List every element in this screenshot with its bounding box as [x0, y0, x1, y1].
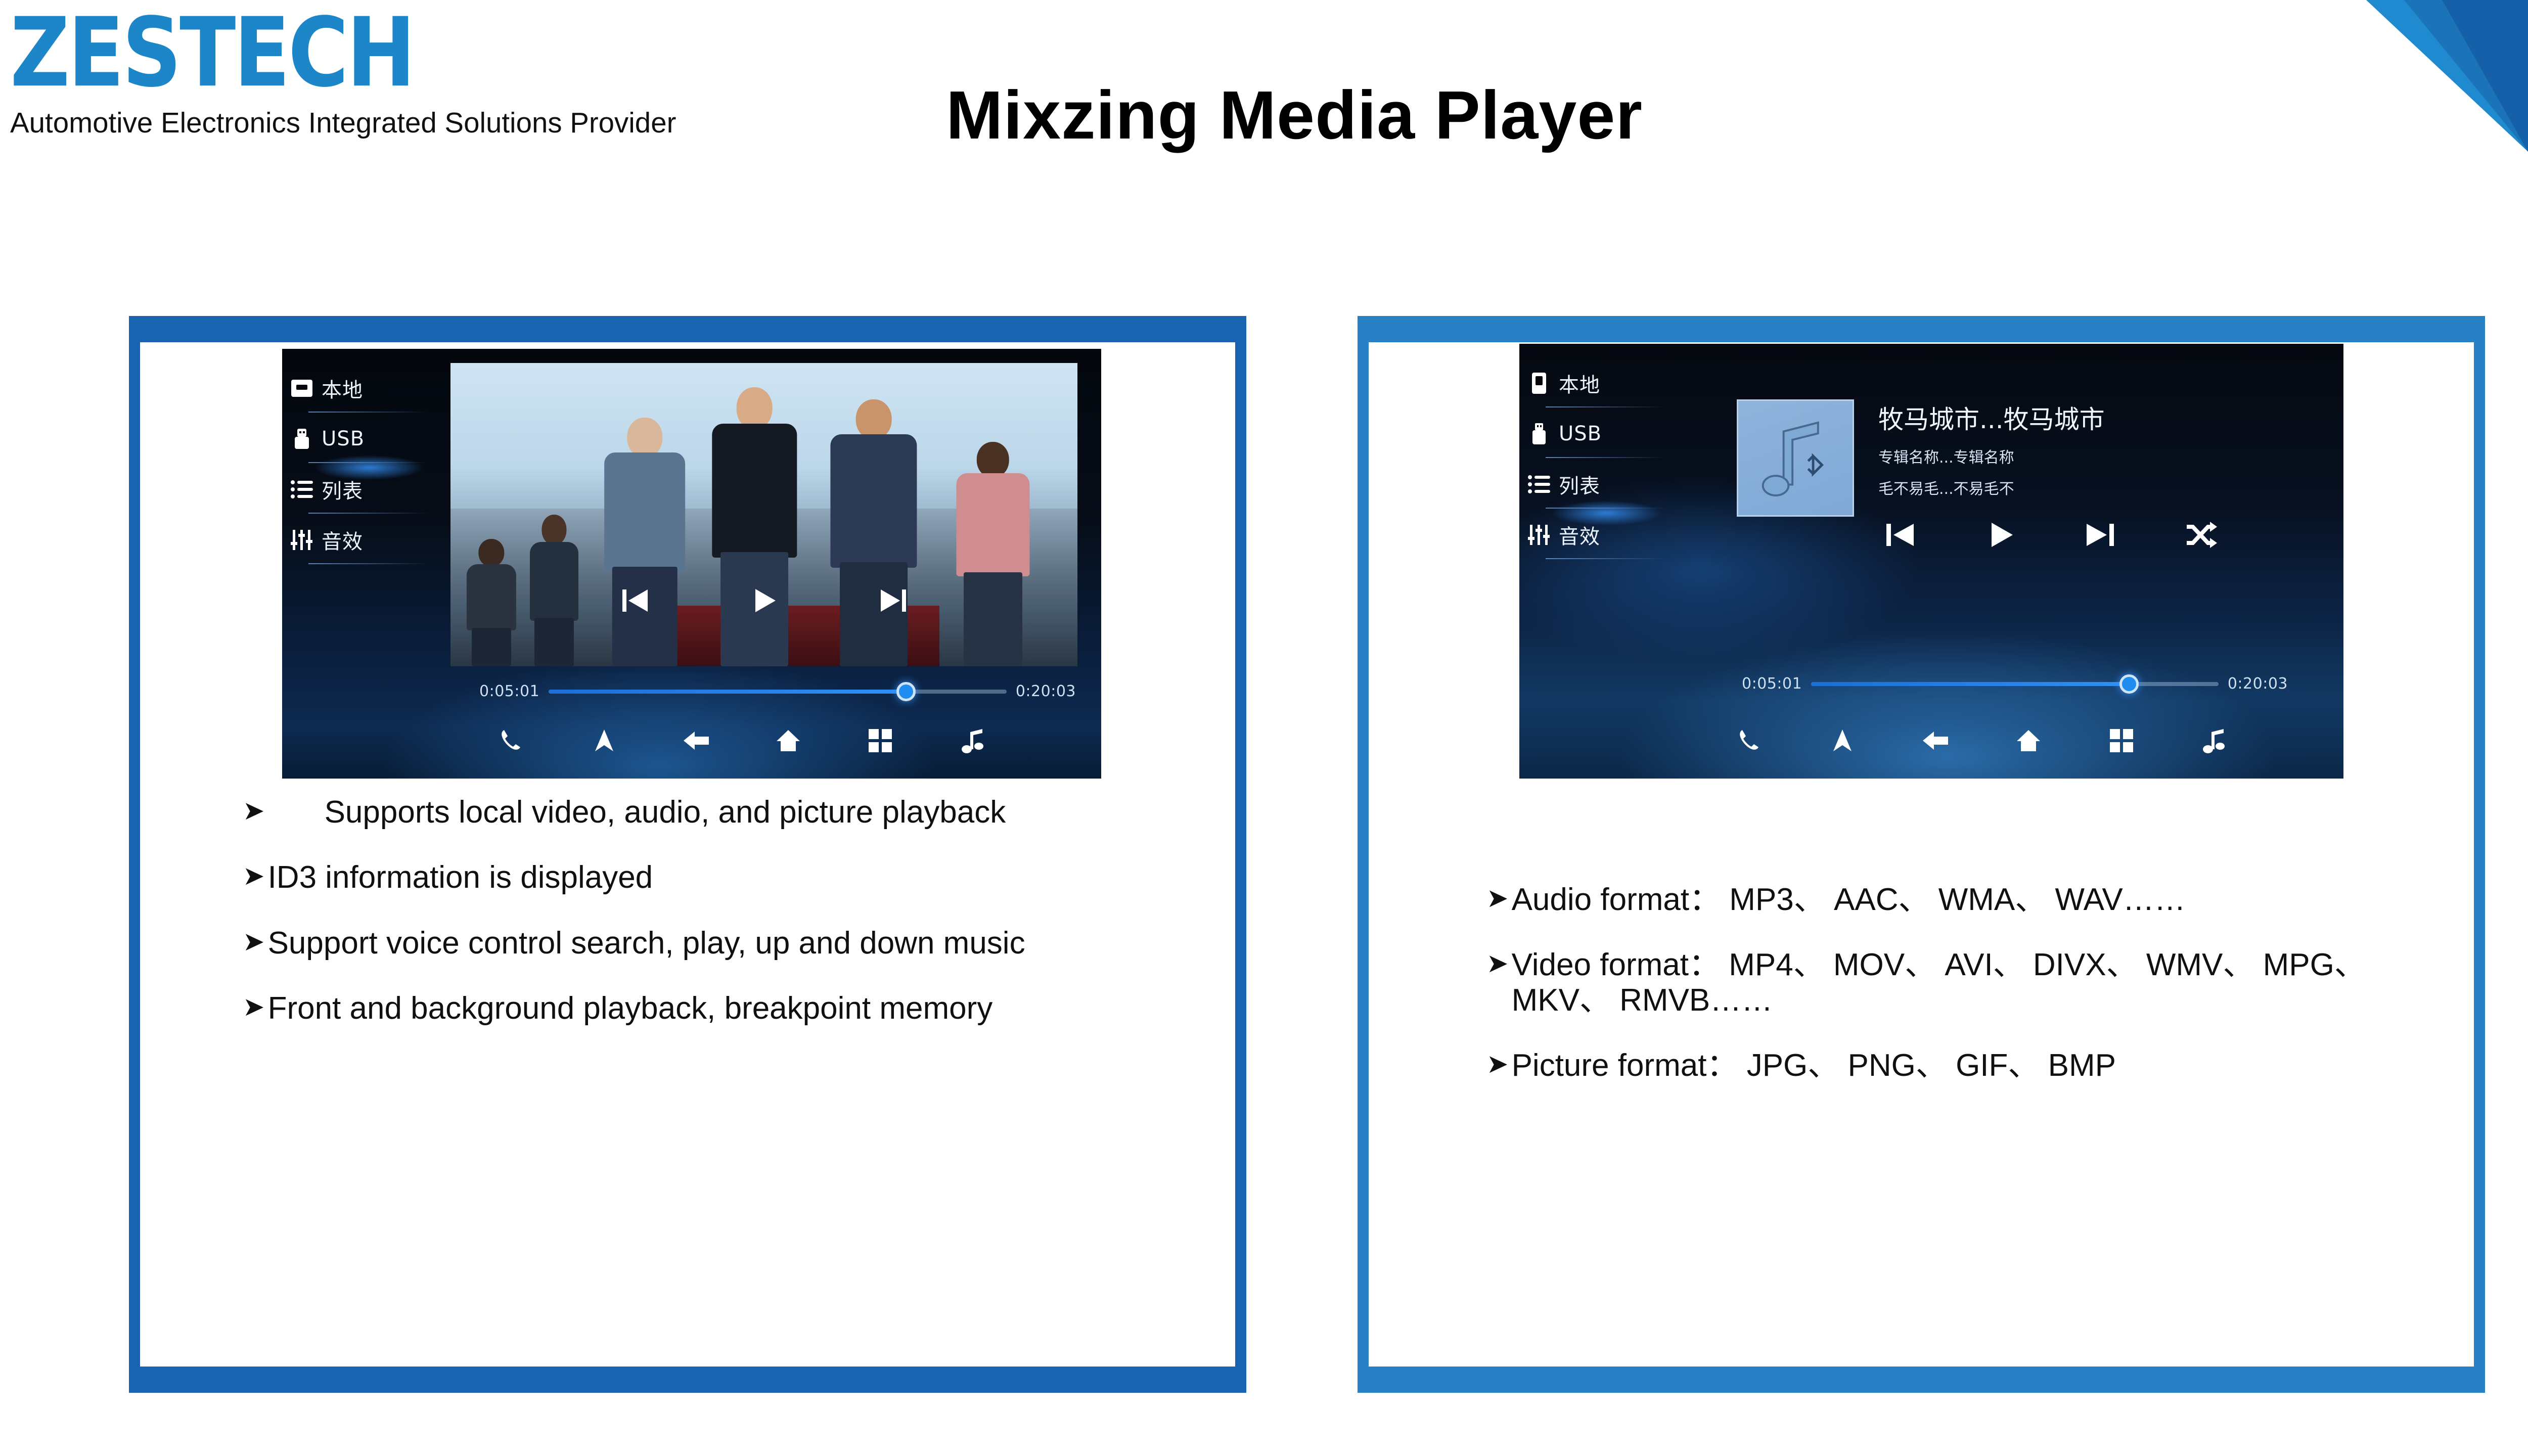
card-frame-right — [2474, 316, 2485, 1393]
back-arrow-icon[interactable] — [1911, 716, 1960, 765]
bullet-marker: ➤ — [1486, 882, 1509, 917]
local-storage-icon — [1519, 372, 1559, 395]
card-frame-left — [1358, 316, 1369, 1393]
progress-bar[interactable] — [1811, 682, 2219, 686]
sidebar-label: USB — [322, 427, 365, 450]
bullet-marker: ➤ — [243, 795, 265, 830]
previous-track-icon[interactable] — [1883, 520, 1917, 553]
sidebar-label: 音效 — [322, 525, 363, 555]
total-time: 0:20:03 — [1016, 682, 1076, 700]
list-item: ➤ Front and background playback, breakpo… — [243, 991, 1168, 1026]
list-item-text: Front and background playback, breakpoin… — [268, 991, 1168, 1026]
shuffle-icon[interactable] — [2184, 520, 2217, 553]
usb-icon — [1519, 422, 1559, 445]
card-frame-top — [1358, 316, 2485, 342]
play-icon[interactable] — [748, 586, 780, 617]
progress-thumb[interactable] — [896, 682, 916, 701]
sidebar-item-sound[interactable]: 音效 — [282, 518, 434, 562]
list-item-text: Support voice control search, play, up a… — [268, 926, 1168, 961]
music-note-bluetooth-icon — [1738, 401, 1853, 515]
bullet-marker: ➤ — [243, 991, 265, 1026]
sidebar-label: 本地 — [322, 374, 363, 403]
phone-icon[interactable] — [487, 716, 536, 765]
sidebar-label: USB — [1559, 422, 1602, 445]
apps-grid-icon[interactable] — [2097, 716, 2146, 765]
sidebar-label: 列表 — [1559, 470, 1600, 499]
list-item: ➤ Support voice control search, play, up… — [243, 926, 1168, 961]
equalizer-icon — [1519, 524, 1559, 546]
navigation-icon[interactable] — [1818, 716, 1867, 765]
playback-progress[interactable]: 0:05:01 0:20:03 — [479, 682, 1076, 700]
list-item-text: Video format： MP4、 MOV、 AVI、 DIVX、 WMV、 … — [1512, 947, 2417, 1018]
card-frame-top — [129, 316, 1246, 342]
sidebar-label: 音效 — [1559, 520, 1600, 550]
progress-thumb[interactable] — [2119, 674, 2139, 694]
music-playback-controls — [1883, 513, 2217, 559]
card-frame-bottom — [129, 1367, 1246, 1393]
video-player-screenshot: 本地 USB 列表 音效 — [282, 349, 1101, 779]
list-item: ➤ Supports local video, audio, and pictu… — [243, 795, 1168, 830]
back-arrow-icon[interactable] — [672, 716, 720, 765]
device-bottom-nav — [282, 703, 1101, 779]
list-item: ➤ Video format： MP4、 MOV、 AVI、 DIVX、 WMV… — [1486, 947, 2417, 1018]
album-art — [1737, 399, 1854, 517]
card-frame-right — [1235, 316, 1246, 1393]
music-note-icon[interactable] — [2190, 716, 2238, 765]
music-player-screenshot: 本地 USB 列表 音效 — [1519, 344, 2343, 779]
bullet-marker: ➤ — [243, 860, 265, 895]
divider — [308, 462, 429, 463]
usb-icon — [282, 428, 322, 450]
play-icon[interactable] — [1983, 520, 2017, 553]
artist-name: 毛不易毛...不易毛不 — [1878, 476, 2232, 498]
now-playing-metadata: 牧马城市...牧马城市 专辑名称...专辑名称 毛不易毛...不易毛不 — [1878, 399, 2232, 498]
elapsed-time: 0:05:01 — [1742, 675, 1802, 693]
list-item-text: Picture format： JPG、 PNG、 GIF、 BMP — [1512, 1048, 2417, 1083]
apps-grid-icon[interactable] — [856, 716, 905, 765]
list-item: ➤ ID3 information is displayed — [243, 860, 1168, 895]
total-time: 0:20:03 — [2228, 675, 2288, 693]
list-icon — [282, 480, 322, 499]
list-item: ➤ Audio format： MP3、 AAC、 WMA、 WAV…… — [1486, 882, 2417, 917]
next-track-icon[interactable] — [2084, 520, 2117, 553]
sidebar-item-local[interactable]: 本地 — [282, 366, 434, 411]
next-track-icon[interactable] — [878, 586, 909, 617]
sidebar-item-list[interactable]: 列表 — [282, 467, 434, 512]
card-frame-left — [129, 316, 140, 1393]
divider — [308, 412, 429, 413]
divider — [1546, 406, 1666, 407]
list-item-text: Supports local video, audio, and picture… — [325, 795, 1168, 830]
phone-icon[interactable] — [1726, 716, 1774, 765]
sidebar-label: 本地 — [1559, 369, 1600, 398]
progress-fill — [1811, 682, 2129, 686]
divider — [1546, 457, 1666, 458]
bullet-marker: ➤ — [1486, 947, 1509, 1018]
progress-bar[interactable] — [549, 690, 1007, 694]
playback-progress[interactable]: 0:05:01 0:20:03 — [1742, 675, 2288, 693]
list-item: ➤ Picture format： JPG、 PNG、 GIF、 BMP — [1486, 1048, 2417, 1083]
list-item-text: ID3 information is displayed — [268, 860, 1168, 895]
sidebar-item-sound[interactable]: 音效 — [1519, 513, 1671, 557]
divider — [1546, 558, 1666, 559]
album-name: 专辑名称...专辑名称 — [1878, 445, 2232, 467]
bullet-marker: ➤ — [1486, 1048, 1509, 1083]
sidebar-item-usb[interactable]: USB — [1519, 412, 1671, 456]
home-icon[interactable] — [764, 716, 812, 765]
divider — [1546, 508, 1666, 509]
list-item-text: Audio format： MP3、 AAC、 WMA、 WAV…… — [1512, 882, 2417, 917]
device-bottom-nav — [1519, 703, 2343, 779]
page-title: Mixzing Media Player — [0, 76, 2528, 154]
equalizer-icon — [282, 529, 322, 551]
home-icon[interactable] — [2004, 716, 2053, 765]
elapsed-time: 0:05:01 — [479, 682, 539, 700]
video-playback-controls — [450, 566, 1077, 637]
previous-track-icon[interactable] — [619, 586, 651, 617]
divider — [308, 563, 429, 564]
local-storage-icon — [282, 378, 322, 398]
navigation-icon[interactable] — [580, 716, 628, 765]
bullet-marker: ➤ — [243, 926, 265, 961]
progress-fill — [549, 690, 906, 694]
card-frame-bottom — [1358, 1367, 2485, 1393]
right-format-list: ➤ Audio format： MP3、 AAC、 WMA、 WAV…… ➤ V… — [1486, 882, 2417, 1114]
left-feature-list: ➤ Supports local video, audio, and pictu… — [243, 795, 1168, 1057]
sidebar-label: 列表 — [322, 475, 363, 504]
divider — [308, 513, 429, 514]
music-note-icon[interactable] — [949, 716, 997, 765]
list-icon — [1519, 475, 1559, 494]
sidebar-item-local[interactable]: 本地 — [1519, 361, 1671, 405]
track-title: 牧马城市...牧马城市 — [1878, 399, 2232, 436]
